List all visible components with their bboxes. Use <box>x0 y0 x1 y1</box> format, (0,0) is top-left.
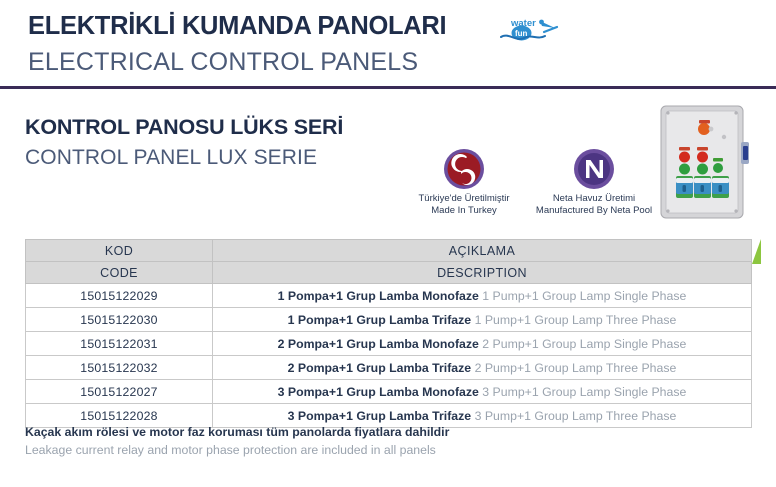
desc-tr: 3 Pompa+1 Grup Lamba Trifaze <box>288 409 472 423</box>
table-row[interactable]: 15015122027 3 Pompa+1 Grup Lamba Monofaz… <box>26 380 752 404</box>
cell-description: 1 Pompa+1 Grup Lamba Trifaze 1 Pump+1 Gr… <box>213 308 752 332</box>
desc-en: 3 Pump+1 Group Lamp Single Phase <box>482 385 686 399</box>
cell-code: 15015122032 <box>26 356 213 380</box>
desc-en: 1 Pump+1 Group Lamp Three Phase <box>475 313 677 327</box>
desc-en: 2 Pump+1 Group Lamp Single Phase <box>482 337 686 351</box>
table-header-row-tr: KOD AÇIKLAMA <box>26 240 752 262</box>
desc-tr: 2 Pompa+1 Grup Lamba Trifaze <box>288 361 472 375</box>
page-title-en: ELECTRICAL CONTROL PANELS <box>28 48 418 77</box>
page-title-tr: ELEKTRİKLİ KUMANDA PANOLARI <box>28 12 446 41</box>
badge-caption-tr: Neta Havuz Üretimi <box>528 193 660 205</box>
footnote-tr: Kaçak akım rölesi ve motor faz koruması … <box>25 425 449 439</box>
desc-tr: 1 Pompa+1 Grup Lamba Monofaze <box>278 289 479 303</box>
desc-tr: 1 Pompa+1 Grup Lamba Trifaze <box>288 313 472 327</box>
table-row[interactable]: 15015122028 3 Pompa+1 Grup Lamba Trifaze… <box>26 404 752 428</box>
badge-caption-en: Manufactured By Neta Pool <box>528 205 660 217</box>
table-corner-accent <box>752 239 761 264</box>
neta-pool-seal-icon <box>573 148 615 190</box>
desc-tr: 2 Pompa+1 Grup Lamba Monofaze <box>278 337 479 351</box>
products-table: KOD AÇIKLAMA CODE DESCRIPTION 1501512202… <box>25 239 752 428</box>
made-in-turkey-seal-icon <box>443 148 485 190</box>
cell-description: 2 Pompa+1 Grup Lamba Trifaze 2 Pump+1 Gr… <box>213 356 752 380</box>
cell-code: 15015122028 <box>26 404 213 428</box>
desc-en: 1 Pump+1 Group Lamp Single Phase <box>482 289 686 303</box>
table-header-row-en: CODE DESCRIPTION <box>26 262 752 284</box>
badge-neta-pool: Neta Havuz Üretimi Manufactured By Neta … <box>528 148 660 216</box>
desc-en: 3 Pump+1 Group Lamp Three Phase <box>475 409 677 423</box>
table-row[interactable]: 15015122032 2 Pompa+1 Grup Lamba Trifaze… <box>26 356 752 380</box>
badge-made-in-turkey: Türkiye'de Üretilmiştir Made In Turkey <box>410 148 518 216</box>
table-body: KOD AÇIKLAMA CODE DESCRIPTION 1501512202… <box>26 240 752 428</box>
col-header-code-tr: KOD <box>26 240 213 262</box>
badge-caption-tr: Türkiye'de Üretilmiştir <box>410 193 518 205</box>
footnote-en: Leakage current relay and motor phase pr… <box>25 443 436 457</box>
cell-description: 1 Pompa+1 Grup Lamba Monofaze 1 Pump+1 G… <box>213 284 752 308</box>
certification-badges: Türkiye'de Üretilmiştir Made In Turkey N… <box>410 148 660 218</box>
cell-description: 3 Pompa+1 Grup Lamba Trifaze 3 Pump+1 Gr… <box>213 404 752 428</box>
table-row[interactable]: 15015122030 1 Pompa+1 Grup Lamba Trifaze… <box>26 308 752 332</box>
badge-caption-en: Made In Turkey <box>410 205 518 217</box>
cell-description: 2 Pompa+1 Grup Lamba Monofaze 2 Pump+1 G… <box>213 332 752 356</box>
water-fun-logo-icon: water fun <box>500 13 560 45</box>
table-row[interactable]: 15015122029 1 Pompa+1 Grup Lamba Monofaz… <box>26 284 752 308</box>
desc-en: 2 Pump+1 Group Lamp Three Phase <box>475 361 677 375</box>
cell-code: 15015122031 <box>26 332 213 356</box>
col-header-code-en: CODE <box>26 262 213 284</box>
col-header-desc-en: DESCRIPTION <box>213 262 752 284</box>
section-title-tr: KONTROL PANOSU LÜKS SERİ <box>25 115 343 140</box>
col-header-desc-tr: AÇIKLAMA <box>213 240 752 262</box>
desc-tr: 3 Pompa+1 Grup Lamba Monofaze <box>278 385 479 399</box>
cell-code: 15015122030 <box>26 308 213 332</box>
cell-code: 15015122027 <box>26 380 213 404</box>
page-header: ELEKTRİKLİ KUMANDA PANOLARI ELECTRICAL C… <box>0 0 776 88</box>
cell-code: 15015122029 <box>26 284 213 308</box>
header-divider <box>0 86 776 89</box>
control-panel-photo <box>655 102 767 226</box>
cell-description: 3 Pompa+1 Grup Lamba Monofaze 3 Pump+1 G… <box>213 380 752 404</box>
table-row[interactable]: 15015122031 2 Pompa+1 Grup Lamba Monofaz… <box>26 332 752 356</box>
section-title-en: CONTROL PANEL LUX SERIE <box>25 146 317 170</box>
